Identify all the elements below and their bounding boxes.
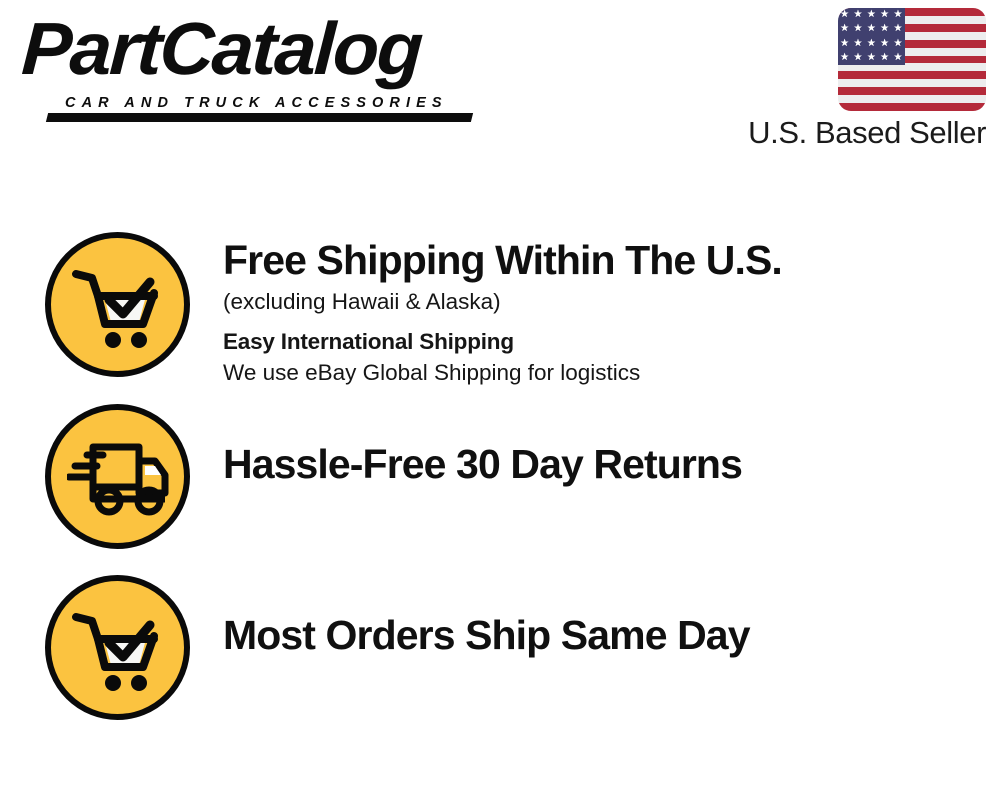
- us-flag-icon: ★★★★★★★★★★★★★★★★★★★★: [838, 8, 986, 111]
- flag-star-icon: ★: [840, 24, 849, 34]
- logo-underline-bar: [46, 113, 473, 122]
- flag-star-icon: ★: [880, 39, 889, 49]
- flag-star-icon: ★: [867, 24, 876, 34]
- us-based-seller-label: U.S. Based Seller: [716, 117, 986, 150]
- feature-row: Hassle-Free 30 Day Returns: [0, 404, 1000, 549]
- us-based-seller-badge: ★★★★★★★★★★★★★★★★★★★★ U.S. Based Seller: [716, 8, 986, 150]
- brand-logo[interactable]: PartCatalog CAR AND TRUCK ACCESSORIES: [22, 18, 492, 118]
- feature-title: Hassle-Free 30 Day Returns: [223, 442, 1000, 488]
- flag-star-icon: ★: [867, 10, 876, 20]
- feature-text-block: Hassle-Free 30 Day Returns: [223, 404, 1000, 488]
- flag-star-icon: ★: [893, 53, 902, 63]
- flag-stripe: [838, 95, 986, 103]
- flag-star-icon: ★: [893, 24, 902, 34]
- feature-title: Most Orders Ship Same Day: [223, 613, 1000, 659]
- flag-star-icon: ★: [840, 53, 849, 63]
- flag-stripe: [838, 71, 986, 79]
- feature-row: Most Orders Ship Same Day: [0, 575, 1000, 720]
- flag-canton: ★★★★★★★★★★★★★★★★★★★★: [838, 8, 905, 65]
- feature-text-block: Free Shipping Within The U.S. (excluding…: [223, 232, 1000, 386]
- shopping-cart-check-icon: [45, 232, 190, 377]
- page-header: PartCatalog CAR AND TRUCK ACCESSORIES ★: [0, 0, 1000, 175]
- flag-star-icon: ★: [853, 24, 862, 34]
- flag-star-icon: ★: [880, 53, 889, 63]
- flag-star-icon: ★: [880, 24, 889, 34]
- feature-row: Free Shipping Within The U.S. (excluding…: [0, 232, 1000, 386]
- flag-stripe: [838, 87, 986, 95]
- flag-star-icon: ★: [853, 39, 862, 49]
- flag-star-icon: ★: [893, 39, 902, 49]
- feature-subline: We use eBay Global Shipping for logistic…: [223, 360, 1000, 386]
- delivery-truck-icon: [45, 404, 190, 549]
- flag-star-icon: ★: [840, 39, 849, 49]
- brand-tagline: CAR AND TRUCK ACCESSORIES: [65, 96, 448, 111]
- feature-title: Free Shipping Within The U.S.: [223, 238, 1000, 284]
- shopping-cart-check-icon: [45, 575, 190, 720]
- flag-star-icon: ★: [893, 10, 902, 20]
- feature-subline: (excluding Hawaii & Alaska): [223, 289, 1000, 315]
- flag-star-icon: ★: [853, 10, 862, 20]
- feature-text-block: Most Orders Ship Same Day: [223, 575, 1000, 659]
- flag-star-icon: ★: [880, 10, 889, 20]
- flag-star-icon: ★: [867, 39, 876, 49]
- flag-stripe: [838, 79, 986, 87]
- flag-star-icon: ★: [840, 10, 849, 20]
- flag-stripe: [838, 103, 986, 111]
- feature-subline: Easy International Shipping: [223, 329, 1000, 355]
- brand-wordmark: PartCatalog: [20, 12, 423, 86]
- flag-star-icon: ★: [853, 53, 862, 63]
- flag-star-icon: ★: [867, 53, 876, 63]
